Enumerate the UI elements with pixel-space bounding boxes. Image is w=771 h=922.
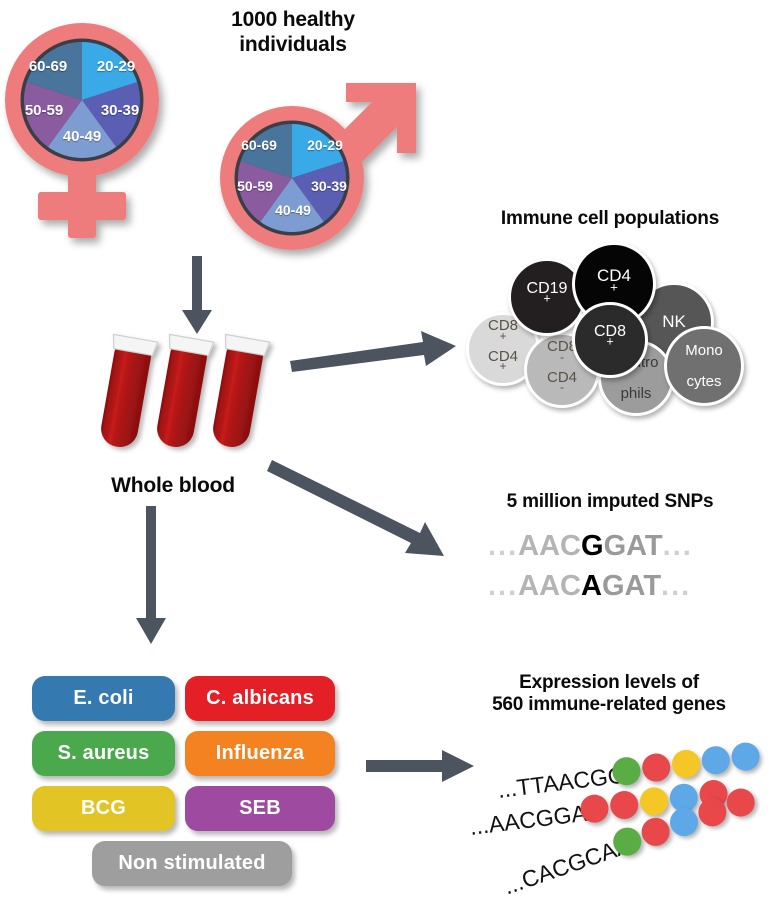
immune-cell-sup: +: [610, 279, 618, 294]
arrow-blood-to-stimuli: [132, 506, 172, 646]
immune-cell-sup2: -: [560, 381, 564, 394]
immune-cell-sup: +: [543, 292, 550, 306]
immune-cell-monocytes[interactable]: Mono cytes: [664, 326, 744, 406]
cohort-title: 1000 healthy individuals: [178, 8, 408, 58]
snp-right-bases: GAT: [604, 530, 663, 562]
gene-bead: [730, 741, 761, 772]
stimulus-seb[interactable]: SEB: [185, 786, 335, 831]
snp-prefix-dots: ...: [488, 530, 518, 562]
immune-cell-populations-title: Immune cell populations: [455, 208, 765, 230]
snp-variant-base: G: [581, 530, 604, 562]
male-gender-symbol: 20-29 30-39 40-49 50-59 60-69: [212, 78, 427, 263]
immune-cell-label-line2: cytes: [685, 374, 723, 389]
snp-sequence-row-1: ...AACGGAT...: [488, 530, 693, 563]
stimulus-e-coli[interactable]: E. coli: [32, 676, 175, 721]
immune-cell-sup: +: [606, 335, 613, 349]
expression-title: Expression levels of 560 immune-related …: [450, 672, 768, 717]
immune-cell-sup1: -: [560, 351, 564, 364]
gene-bead: [700, 745, 731, 776]
gene-bead: [638, 786, 669, 817]
immune-cell-label-line1: Mono: [685, 343, 723, 358]
snp-left-bases: AAC: [518, 530, 581, 562]
snp-sequence-row-2: ...AACAGAT...: [488, 570, 691, 603]
snp-left-bases: AAC: [518, 570, 581, 602]
immune-cell-cluster: CD8+ CD4+ CD19+ CD4+ CD8- CD4- C: [462, 240, 762, 410]
stimulus-influenza[interactable]: Influenza: [185, 731, 335, 776]
snp-variant-base: A: [581, 570, 602, 602]
immune-cell-sup1: +: [500, 330, 507, 343]
snps-title: 5 million imputed SNPs: [455, 491, 765, 513]
female-gender-symbol: 20-29 30-39 40-49 50-59 60-69: [6, 12, 196, 252]
whole-blood-label: Whole blood: [78, 474, 268, 499]
immune-cell-label: NK: [662, 313, 686, 330]
immune-cell-label-line2: phils: [613, 386, 658, 401]
stimulus-s-aureus[interactable]: S. aureus: [32, 731, 175, 776]
figure-canvas: 1000 healthy individuals: [0, 0, 771, 922]
stimulus-bcg[interactable]: BCG: [32, 786, 175, 831]
snp-prefix-dots: ...: [488, 570, 518, 602]
gene-bead: [670, 748, 701, 779]
immune-cell-cd8pos[interactable]: CD8+: [572, 302, 648, 378]
arrow-blood-to-snps: [272, 460, 462, 570]
snp-suffix-dots: ...: [661, 570, 691, 602]
cohort-title-line1: 1000 healthy: [178, 8, 408, 33]
snp-suffix-dots: ...: [663, 530, 693, 562]
stimulus-c-albicans[interactable]: C. albicans: [185, 676, 335, 721]
arrow-blood-to-immune-cells: [290, 330, 460, 380]
cohort-title-line2: individuals: [178, 33, 408, 58]
gene-bead: [641, 752, 672, 783]
stimulus-non-stimulated[interactable]: Non stimulated: [92, 841, 292, 886]
expression-title-line2: 560 immune-related genes: [450, 694, 768, 716]
expression-title-line1: Expression levels of: [450, 672, 768, 694]
immune-cell-sup2: +: [500, 360, 507, 373]
gene-bead: [609, 789, 640, 820]
arrow-stimuli-to-expression: [366, 750, 476, 784]
whole-blood-tubes: [95, 330, 275, 460]
snp-right-bases: GAT: [602, 570, 661, 602]
arrow-cohort-to-blood: [178, 256, 218, 336]
